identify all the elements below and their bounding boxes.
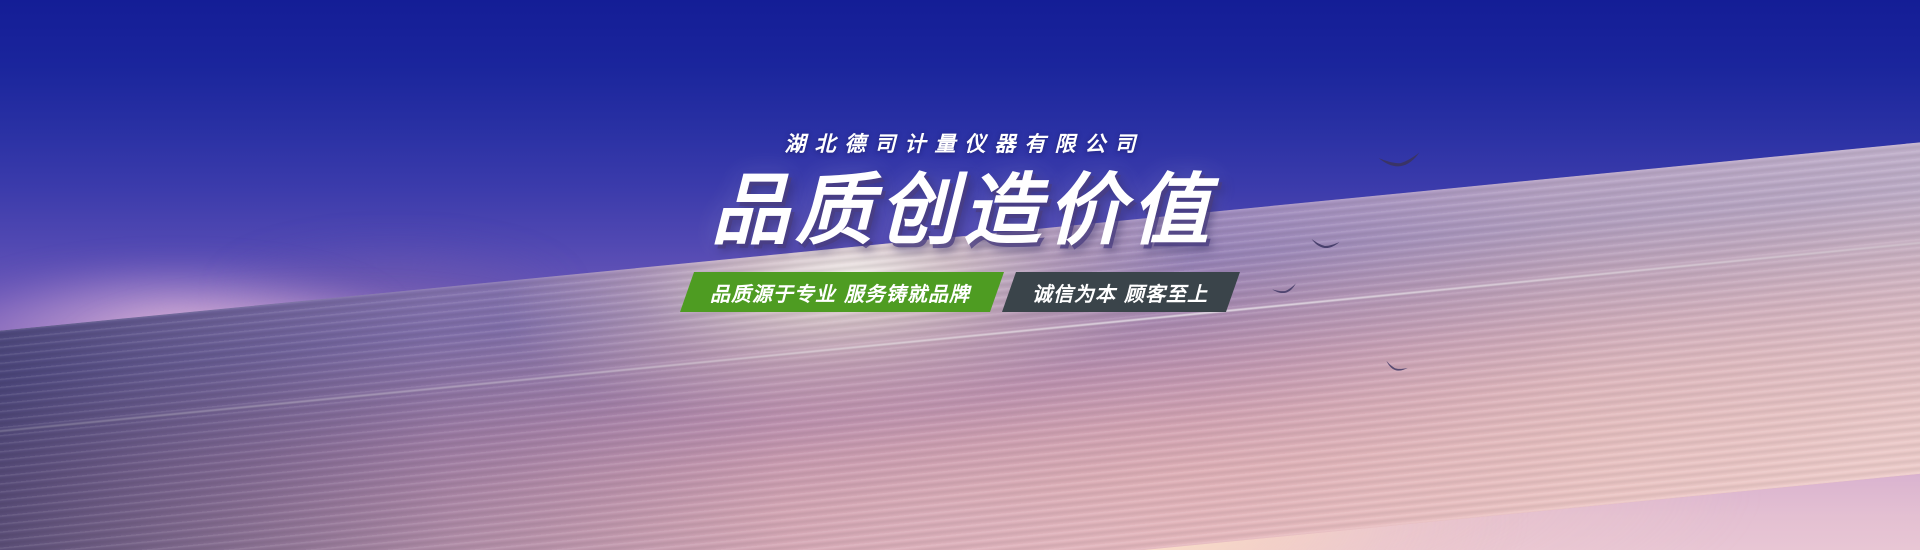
company-name: 湖北德司计量仪器有限公司 (776, 128, 1145, 158)
slogan-primary: 品质源于专业 服务铸就品牌 (680, 272, 1004, 312)
slogan-secondary: 诚信为本 顾客至上 (1002, 272, 1240, 312)
banner-content: 湖北德司计量仪器有限公司 品质创造价值 品质源于专业 服务铸就品牌 诚信为本 顾… (0, 0, 1920, 550)
hero-banner: 湖北德司计量仪器有限公司 品质创造价值 品质源于专业 服务铸就品牌 诚信为本 顾… (0, 0, 1920, 550)
page-title: 品质创造价值 (705, 172, 1215, 250)
slogan-bar: 品质源于专业 服务铸就品牌 诚信为本 顾客至上 (680, 272, 1240, 312)
